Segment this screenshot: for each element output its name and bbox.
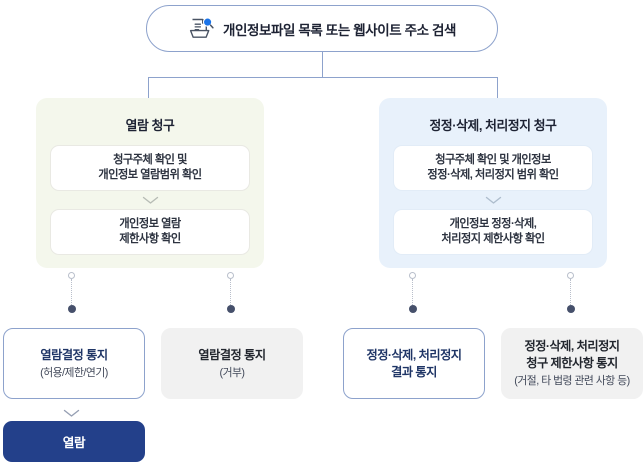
connector-to-left-branch: [148, 77, 149, 99]
connector-split-horizontal: [148, 77, 498, 78]
dotted-connector-1: [67, 272, 76, 313]
step-line-1: 개인정보 정정·삭제,: [450, 217, 537, 232]
connector-ring-icon: [227, 272, 234, 279]
connector-dashes: [412, 279, 413, 305]
connector-dashes: [570, 279, 571, 305]
root-search-node[interactable]: 개인정보파일 목록 또는 웹사이트 주소 검색: [146, 5, 498, 52]
result-box-correction-result[interactable]: 정정·삭제, 처리정지 결과 통지: [343, 328, 485, 399]
chevron-down-icon-cta: [59, 406, 83, 420]
connector-dot-icon: [409, 305, 417, 313]
result-note: (거절, 타 법령 관련 사항 등): [514, 373, 630, 389]
branch-title-correction: 정정·삭제, 처리정지 청구: [393, 98, 593, 145]
result-note: (허용/제한/연기): [40, 365, 108, 381]
result-title-line-1: 정정·삭제, 처리정지: [366, 347, 461, 364]
step-line-2: 처리정지 제한사항 확인: [441, 232, 544, 247]
step-line-1: 청구주체 확인 및: [113, 153, 187, 168]
result-note: (거부): [219, 365, 244, 381]
connector-dot-icon: [227, 305, 235, 313]
step-line-2: 제한사항 확인: [119, 232, 180, 247]
flowchart-canvas: 개인정보파일 목록 또는 웹사이트 주소 검색 열람 청구 청구주체 확인 및 …: [0, 0, 643, 465]
view-records-button-label: 열람: [63, 432, 86, 451]
document-search-icon: [188, 16, 214, 42]
step-box-correction-2[interactable]: 개인정보 정정·삭제, 처리정지 제한사항 확인: [393, 209, 593, 255]
dotted-connector-3: [408, 272, 417, 313]
step-box-access-1[interactable]: 청구주체 확인 및 개인정보 열람범위 확인: [50, 145, 250, 191]
result-box-access-decision-allow[interactable]: 열람결정 통지 (허용/제한/연기): [3, 328, 145, 399]
root-node-label: 개인정보파일 목록 또는 웹사이트 주소 검색: [223, 19, 456, 39]
chevron-down-icon: [50, 191, 250, 209]
step-box-access-2[interactable]: 개인정보 열람 제한사항 확인: [50, 209, 250, 255]
dotted-connector-4: [566, 272, 575, 313]
connector-dot-icon: [567, 305, 575, 313]
result-box-correction-restriction[interactable]: 정정·삭제, 처리정지 청구 제한사항 통지 (거절, 타 법령 관련 사항 등…: [501, 328, 643, 399]
connector-dot-icon: [68, 305, 76, 313]
connector-trunk-vertical: [322, 52, 323, 78]
connector-to-right-branch: [497, 77, 498, 99]
branch-title-access: 열람 청구: [50, 98, 250, 145]
result-title-line-2: 청구 제한사항 통지: [526, 355, 617, 372]
step-box-correction-1[interactable]: 청구주체 확인 및 개인정보 정정·삭제, 처리정지 범위 확인: [393, 145, 593, 191]
dotted-connector-2: [226, 272, 235, 313]
connector-ring-icon: [68, 272, 75, 279]
step-line-1: 개인정보 열람: [119, 217, 180, 232]
branch-panel-correction: 정정·삭제, 처리정지 청구 청구주체 확인 및 개인정보 정정·삭제, 처리정…: [379, 98, 607, 268]
step-line-2: 개인정보 열람범위 확인: [98, 168, 201, 183]
connector-ring-icon: [567, 272, 574, 279]
result-box-access-decision-refuse[interactable]: 열람결정 통지 (거부): [161, 328, 303, 399]
result-title: 열람결정 통지: [198, 347, 265, 364]
connector-dashes: [230, 279, 231, 305]
chevron-down-icon: [393, 191, 593, 209]
result-title-line-2: 결과 통지: [391, 364, 437, 381]
view-records-button[interactable]: 열람: [3, 421, 145, 462]
step-line-1: 청구주체 확인 및 개인정보: [435, 153, 551, 168]
step-line-2: 정정·삭제, 처리정지 범위 확인: [427, 168, 558, 183]
result-title: 열람결정 통지: [40, 347, 107, 364]
result-title-line-1: 정정·삭제, 처리정지: [524, 338, 619, 355]
branch-panel-access: 열람 청구 청구주체 확인 및 개인정보 열람범위 확인 개인정보 열람 제한사…: [36, 98, 264, 268]
connector-dashes: [71, 279, 72, 305]
connector-ring-icon: [409, 272, 416, 279]
